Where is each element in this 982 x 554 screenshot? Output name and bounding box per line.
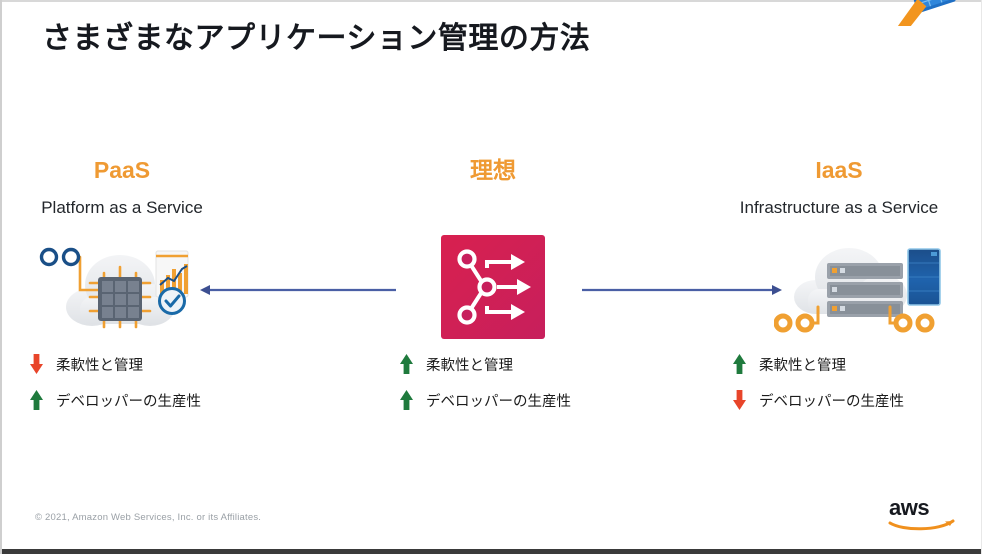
bullet-row: デベロッパーの生産性 (28, 386, 201, 418)
arrow-up-icon (398, 353, 415, 379)
branching-arrows-icon (393, 232, 593, 342)
bullet-label: 柔軟性と管理 (759, 359, 846, 374)
column-header-ideal: 理想 (343, 158, 643, 199)
bullet-row: デベロッパーの生産性 (731, 386, 904, 418)
column-title-iaas: IaaS (689, 158, 982, 183)
column-title-ideal: 理想 (343, 158, 643, 183)
bullet-label: デベロッパーの生産性 (56, 395, 201, 410)
corner-overlay-graphic (879, 0, 975, 26)
bullet-row: 柔軟性と管理 (28, 350, 201, 382)
bullet-list-paas: 柔軟性と管理 デベロッパーの生産性 (28, 350, 201, 418)
arrow-up-icon (398, 389, 415, 415)
cloud-chip-icon (22, 232, 212, 342)
arrow-down-icon (28, 353, 45, 379)
page-title: さまざまなアプリケーション管理の方法 (42, 13, 590, 57)
slide-canvas: さまざまなアプリケーション管理の方法 PaaS Platform as a Se… (0, 0, 982, 554)
bullet-label: 柔軟性と管理 (426, 359, 513, 374)
arrow-up-icon (28, 389, 45, 415)
cloud-server-icon (762, 232, 962, 342)
bullet-list-ideal: 柔軟性と管理 デベロッパーの生産性 (398, 350, 571, 418)
slide-top-edge (2, 0, 981, 2)
bullet-row: デベロッパーの生産性 (398, 386, 571, 418)
slide-bottom-edge (2, 549, 981, 554)
arrow-down-icon (731, 389, 748, 415)
column-subtitle-paas: Platform as a Service (0, 199, 272, 218)
column-title-paas: PaaS (0, 158, 272, 183)
bullet-label: 柔軟性と管理 (56, 359, 143, 374)
bullet-row: 柔軟性と管理 (731, 350, 904, 382)
arrow-up-icon (731, 353, 748, 379)
bullet-label: デベロッパーの生産性 (426, 395, 571, 410)
bullet-list-iaas: 柔軟性と管理 デベロッパーの生産性 (731, 350, 904, 418)
bullet-label: デベロッパーの生産性 (759, 395, 904, 410)
bullet-row: 柔軟性と管理 (398, 350, 571, 382)
arrow-pointing-right (580, 272, 784, 308)
column-header-paas: PaaS Platform as a Service (0, 158, 272, 218)
aws-logo: aws (887, 495, 959, 531)
svg-text:aws: aws (889, 495, 929, 520)
copyright-text: © 2021, Amazon Web Services, Inc. or its… (35, 512, 261, 523)
arrow-pointing-left (198, 272, 398, 308)
column-subtitle-iaas: Infrastructure as a Service (689, 199, 982, 218)
column-header-iaas: IaaS Infrastructure as a Service (689, 158, 982, 218)
